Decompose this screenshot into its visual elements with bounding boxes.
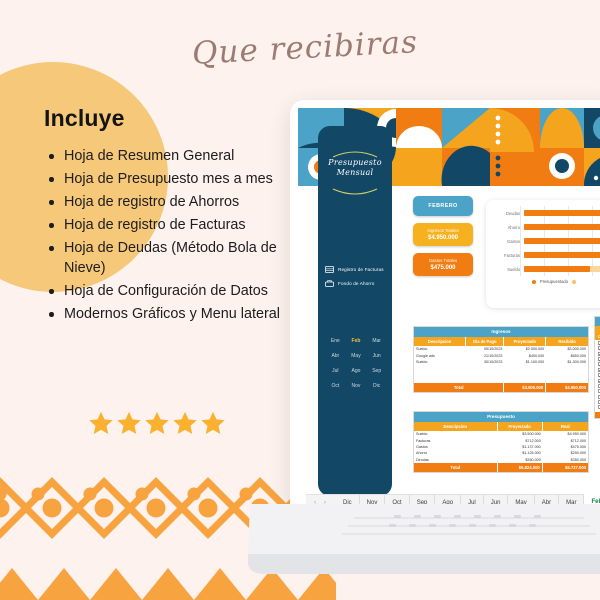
kpi-ingresos-totales: Ingresos Totales $4.950.000 [413, 223, 473, 246]
table-presupuesto: Presupuesto Descripcion Proyectado Real … [413, 411, 589, 473]
chart-category-label: Deudas [492, 211, 524, 216]
kpi-cards: FEBRERO Ingresos Totales $4.950.000 Gast… [413, 196, 473, 283]
kpi-value: $475.000 [416, 265, 470, 271]
kpi-title: Gastos Totales [416, 258, 470, 263]
total-proyectado: $6.824.000 [498, 463, 543, 472]
invoice-icon [325, 266, 334, 273]
month-mar[interactable]: Mar [367, 338, 386, 344]
list-item: Hoja de registro de Facturas [64, 215, 294, 235]
list-item: Hoja de Resumen General [64, 146, 294, 166]
chart-legend: Presupuestado [492, 279, 600, 284]
column-header: Proyectado [504, 337, 546, 346]
table-empty-space [414, 365, 588, 383]
column-header: Proyectado [498, 422, 543, 431]
list-item: Hoja de Configuración de Datos [64, 281, 294, 301]
table-ingresos: Ingresos Descripcion Dia de Pago Proyect… [413, 326, 589, 393]
column-header: Descripcion [414, 422, 498, 431]
month-feb[interactable]: Feb [347, 338, 366, 344]
app-sidebar: Presupuesto Mensual Registro de Facturas [318, 126, 392, 496]
chart-category-label: Ahorro [492, 225, 524, 230]
chart-category-label: Gastos [492, 239, 524, 244]
month-ene[interactable]: Ene [326, 338, 345, 344]
table-total-row: Total $6.824.000 $6.737.000 [414, 463, 588, 472]
checklist-title-bar [595, 317, 600, 326]
list-item: Hoja de Deudas (Método Bola de Nieve) [64, 238, 294, 278]
chart-bar-track [524, 266, 600, 272]
sidebar-item-registro-facturas[interactable]: Registro de Facturas [325, 266, 393, 273]
column-header: Recibido [546, 337, 588, 346]
column-header: Dia de Pago [466, 337, 504, 346]
chart-category-label: Facturas [492, 253, 524, 258]
rating-stars [88, 410, 226, 436]
features-block: Incluye Hoja de Resumen General Hoja de … [44, 105, 294, 327]
checklist-column-header: Descripcion [595, 333, 600, 340]
chart-plot-area: Deudas Ahorro Gastos Facturas [492, 206, 600, 276]
table-title: Ingresos [414, 327, 588, 337]
script-heading: Que recibiras [204, 13, 407, 83]
total-proyectado: $3.500.000 [504, 383, 546, 392]
checklist-row [595, 405, 600, 410]
sidebar-menu: Registro de Facturas Fondo de Ahorro [325, 266, 393, 294]
month-dic[interactable]: Dic [367, 383, 386, 389]
budget-bar-chart: Deudas Ahorro Gastos Facturas [486, 200, 600, 308]
features-heading: Incluye [44, 105, 294, 132]
chart-bar-presupuestado [524, 210, 600, 216]
chart-bar-presupuestado [524, 224, 600, 230]
laptop-base [244, 504, 600, 576]
month-jun[interactable]: Jun [367, 353, 386, 359]
cell: $1.300.000 [546, 359, 588, 365]
app-brand: Presupuesto Mensual [318, 158, 392, 178]
spreadsheet-app: Presupuesto Mensual Registro de Facturas [298, 108, 600, 510]
month-nov[interactable]: Nov [347, 383, 366, 389]
chart-row: Ahorro [492, 220, 600, 234]
sidebar-item-fondo-ahorro[interactable]: Fondo de Ahorro [325, 280, 393, 287]
chart-bar-track [524, 238, 600, 244]
month-sep[interactable]: Sep [367, 368, 386, 374]
list-item: Modernos Gráficos y Menu lateral [64, 304, 294, 324]
total-recibido: $4.950.000 [546, 383, 588, 392]
laptop-screen-lid: Presupuesto Mensual Registro de Facturas [290, 100, 600, 510]
chart-bar-track [524, 224, 600, 230]
star-icon [200, 410, 226, 436]
brand-line-2: Mensual [337, 168, 374, 177]
table-total-row: Total $3.500.000 $4.950.000 [414, 383, 588, 392]
features-list: Hoja de Resumen General Hoja de Presupue… [44, 146, 294, 324]
total-label: Total [414, 463, 498, 472]
legend-dot-presupuestado [532, 280, 536, 284]
sidebar-month-grid: Ene Feb Mar Abr May Jun Jul Ago Sep Oct … [326, 338, 386, 389]
table-row: Sueldo 30/10/2023 $1.100.000 $1.300.000 [414, 359, 588, 365]
table-header-row: Descripcion Dia de Pago Proyectado Recib… [414, 337, 588, 346]
table-title: Presupuesto [414, 412, 588, 422]
chart-row: Facturas [492, 248, 600, 262]
cell: Sueldo [414, 359, 466, 365]
month-ago[interactable]: Ago [347, 368, 366, 374]
chart-row: Sueldo [492, 262, 600, 276]
month-jul[interactable]: Jul [326, 368, 345, 374]
kpi-month-badge[interactable]: FEBRERO [413, 196, 473, 216]
month-oct[interactable]: Oct [326, 383, 345, 389]
arc-decoration-bottom [332, 188, 378, 198]
savings-icon [325, 280, 334, 287]
chart-bar-presupuestado [524, 266, 590, 272]
star-icon [172, 410, 198, 436]
chart-row: Gastos [492, 234, 600, 248]
chart-category-label: Sueldo [492, 267, 524, 272]
table-header-row: Descripcion Proyectado Real [414, 422, 588, 431]
chart-bar-presupuestado [524, 238, 600, 244]
sidebar-item-label: Fondo de Ahorro [338, 281, 374, 286]
list-item: Hoja de Presupuesto mes a mes [64, 169, 294, 189]
chart-bar-track [524, 252, 600, 258]
total-real: $6.737.000 [543, 463, 588, 472]
poster-canvas: Que recibiras Incluye Hoja de Resumen Ge… [0, 0, 600, 600]
kpi-gastos-totales: Gastos Totales $475.000 [413, 253, 473, 276]
column-header: Descripcion [414, 337, 466, 346]
legend-label-presupuestado: Presupuestado [540, 279, 568, 284]
star-icon [144, 410, 170, 436]
checklist-subbar [595, 326, 600, 333]
list-item: Hoja de registro de Ahorros [64, 192, 294, 212]
legend-dot-real [572, 280, 576, 284]
sidebar-item-label: Registro de Facturas [338, 267, 384, 272]
chart-bar-presupuestado [524, 252, 600, 258]
table-checklist: Descripcion Arriendo Luz Agua Gas Plan c… [594, 316, 600, 419]
chart-bar-track [524, 210, 600, 216]
kpi-title: Ingresos Totales [416, 228, 470, 233]
cell: $1.100.000 [504, 359, 546, 365]
laptop-mockup: Presupuesto Mensual Registro de Facturas [290, 100, 600, 570]
brand-line-1: Presupuesto [328, 158, 382, 167]
month-may[interactable]: May [347, 353, 366, 359]
kpi-value: $4.950.000 [416, 235, 470, 241]
star-icon [88, 410, 114, 436]
total-label: Total [414, 383, 504, 392]
arc-decoration-top [332, 148, 378, 158]
month-abr[interactable]: Abr [326, 353, 345, 359]
chart-row: Deudas [492, 206, 600, 220]
cell: 30/10/2023 [466, 359, 504, 365]
column-header: Real [543, 422, 588, 431]
star-icon [116, 410, 142, 436]
checklist-total-bar [595, 412, 600, 418]
